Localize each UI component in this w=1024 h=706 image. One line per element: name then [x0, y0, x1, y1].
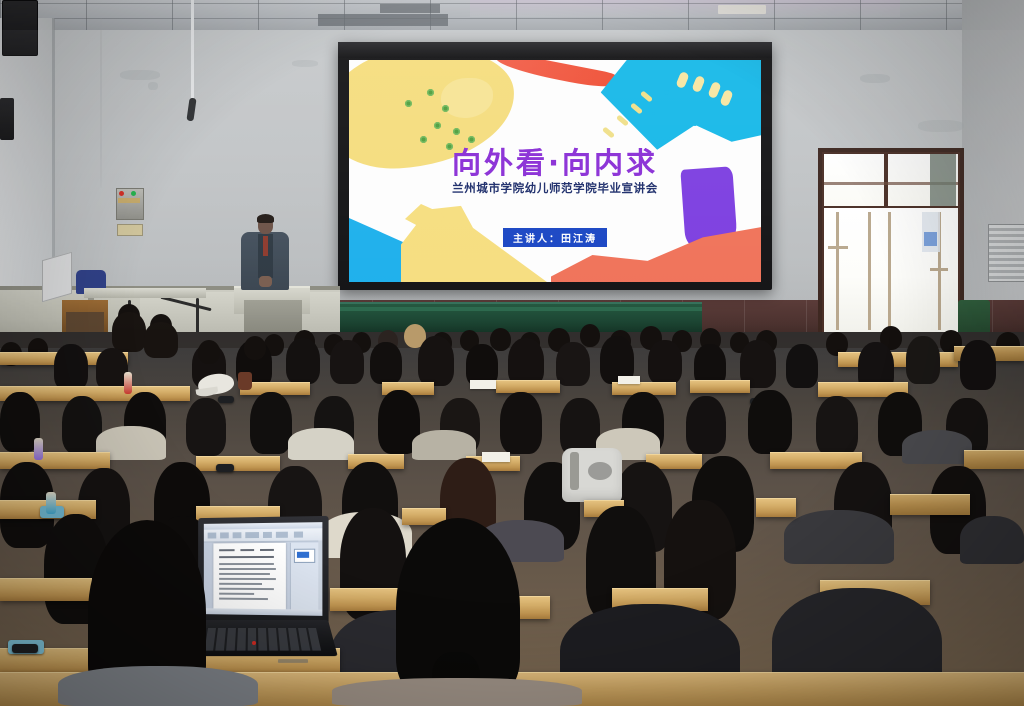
water-bottle[interactable] [124, 372, 132, 394]
water-bottle[interactable] [34, 438, 43, 460]
desk-row [330, 588, 400, 611]
ceiling-lamp [718, 5, 766, 14]
ribbon-icon[interactable] [208, 533, 217, 539]
audience-hair [960, 340, 996, 390]
audience-head [490, 328, 511, 351]
chalkboard-tray [312, 307, 702, 311]
doc-text-line [219, 578, 276, 580]
ceiling-open-tile [318, 14, 448, 26]
cyan-speck [679, 104, 683, 108]
cyan-speck [664, 90, 669, 95]
ribbon-icon[interactable] [245, 532, 259, 538]
door-bar [868, 212, 871, 330]
thermos[interactable] [238, 372, 252, 390]
audience-head [244, 336, 266, 360]
doc-table-cell [240, 549, 254, 551]
laptop-screen[interactable] [204, 522, 323, 616]
audience-hair [906, 336, 940, 384]
desk-row [756, 498, 796, 517]
slide-speaker-row: 主讲人：田江涛 [349, 228, 761, 247]
ribbon-icon[interactable] [233, 532, 242, 538]
doc-text-line [219, 563, 274, 565]
papers[interactable] [482, 452, 510, 462]
phone[interactable] [218, 396, 234, 403]
audience-hair [54, 344, 88, 390]
doc-text-line [219, 568, 276, 570]
doc-text-line [219, 573, 270, 575]
audience-head [580, 324, 600, 347]
door-notice-accent [924, 232, 937, 246]
backpack-print [588, 462, 612, 480]
foreground-student-shoulders-2 [332, 678, 582, 706]
audience-shoulders [784, 510, 894, 564]
phone[interactable] [216, 464, 234, 472]
presenter-hair [257, 214, 274, 223]
wall-mark [292, 60, 318, 67]
cyan-speck [652, 112, 655, 115]
slide-speaker-label: 主讲人：田江涛 [503, 228, 607, 247]
yellow-dash [602, 126, 615, 138]
wall-mark [120, 70, 160, 80]
audience-hair [508, 338, 544, 386]
lecture-hall-photo: 向外看·向内求 兰州城市学院幼儿师范学院毕业宣讲会 主讲人：田江涛 [0, 0, 1024, 706]
wall-mark [860, 74, 890, 83]
desk-row [690, 380, 750, 393]
window-mullion-vertical [884, 154, 888, 206]
doc-table-cell [219, 549, 234, 551]
desk-row [496, 380, 560, 393]
wall-conduit [100, 18, 102, 188]
wall-vent [988, 224, 1024, 282]
papers[interactable] [618, 376, 640, 384]
foreground-student-shoulders [58, 666, 258, 706]
presenter-tie [263, 236, 268, 256]
audience-hair [500, 392, 542, 454]
doc-text-line [219, 593, 254, 595]
wall-speaker-secondary-icon [0, 98, 14, 140]
audience-hair [250, 392, 292, 454]
side-monitor [42, 252, 72, 303]
audience-hair [330, 340, 364, 384]
ribbon-icon[interactable] [263, 532, 272, 538]
green-dot-icon [427, 89, 434, 96]
ribbon-icon[interactable] [294, 532, 303, 538]
slide-subtitle: 兰州城市学院幼儿师范学院毕业宣讲会 [349, 180, 761, 196]
side-table [84, 288, 206, 298]
green-dot-icon [453, 128, 460, 135]
cyan-speck [693, 122, 697, 126]
ribbon-icon[interactable] [220, 532, 229, 538]
audience-hair [816, 396, 858, 456]
power-led-red-icon [119, 191, 124, 196]
wall-speaker-icon [2, 0, 38, 56]
projection-screen-roller [338, 42, 772, 58]
door-bar-cross [930, 268, 948, 271]
audience-hair [648, 340, 682, 384]
power-led-green-icon [131, 191, 136, 196]
wooden-crate-shadow [66, 312, 104, 334]
audience-hair [418, 336, 454, 386]
scrollbar[interactable] [318, 540, 322, 611]
green-dot-icon [405, 100, 412, 107]
slide-title: 向外看·向内求 [349, 140, 761, 182]
desk-row [890, 494, 970, 515]
wall-mark [918, 120, 964, 132]
trackpoint-icon[interactable] [252, 641, 256, 645]
audience-hair [748, 390, 792, 454]
microphone-cable [191, 0, 194, 100]
control-panel-label [118, 198, 140, 203]
desk-row [0, 578, 92, 601]
audience-hair [286, 338, 320, 384]
ceiling-grid [0, 0, 1024, 34]
side-pane-selection [297, 552, 309, 558]
door-bar [836, 212, 839, 330]
doc-table-cell [260, 549, 274, 551]
control-panel-plate [117, 224, 143, 236]
laptop-logo [278, 659, 308, 663]
presenter-hands [259, 276, 272, 287]
audience-shoulders [288, 428, 354, 460]
audience-hair [370, 342, 402, 384]
desk-row [964, 450, 1024, 469]
papers[interactable] [470, 380, 496, 389]
wall-mark [148, 82, 158, 90]
presentation-slide[interactable]: 向外看·向内求 兰州城市学院幼儿师范学院毕业宣讲会 主讲人：田江涛 [349, 60, 761, 282]
ribbon-icon[interactable] [276, 532, 288, 538]
doc-table-rule [219, 556, 274, 558]
audience-hair [144, 322, 178, 358]
audience-hair [686, 396, 726, 454]
desk-row [196, 456, 280, 471]
audience-hair [556, 342, 590, 386]
window-pane-tinted [930, 154, 956, 206]
backpack-strap [570, 452, 579, 490]
ceiling-open-tile-2 [380, 4, 440, 13]
audience-hair [786, 344, 818, 388]
audience-shoulders [960, 516, 1024, 564]
audience-head [198, 340, 220, 364]
desk-row [838, 352, 958, 367]
water-bottle[interactable] [46, 492, 56, 514]
audience-hair [112, 312, 146, 352]
door-bar [888, 212, 891, 330]
audience-shoulders [902, 430, 972, 464]
green-dot-icon [442, 105, 449, 112]
green-dot-icon [434, 122, 441, 129]
audience-hair [186, 398, 226, 456]
doc-text-line [219, 583, 262, 585]
door-bar-cross [828, 246, 848, 249]
slide-canvas: 向外看·向内求 兰州城市学院幼儿师范学院毕业宣讲会 主讲人：田江涛 [349, 60, 761, 282]
phone-screen [12, 644, 38, 653]
